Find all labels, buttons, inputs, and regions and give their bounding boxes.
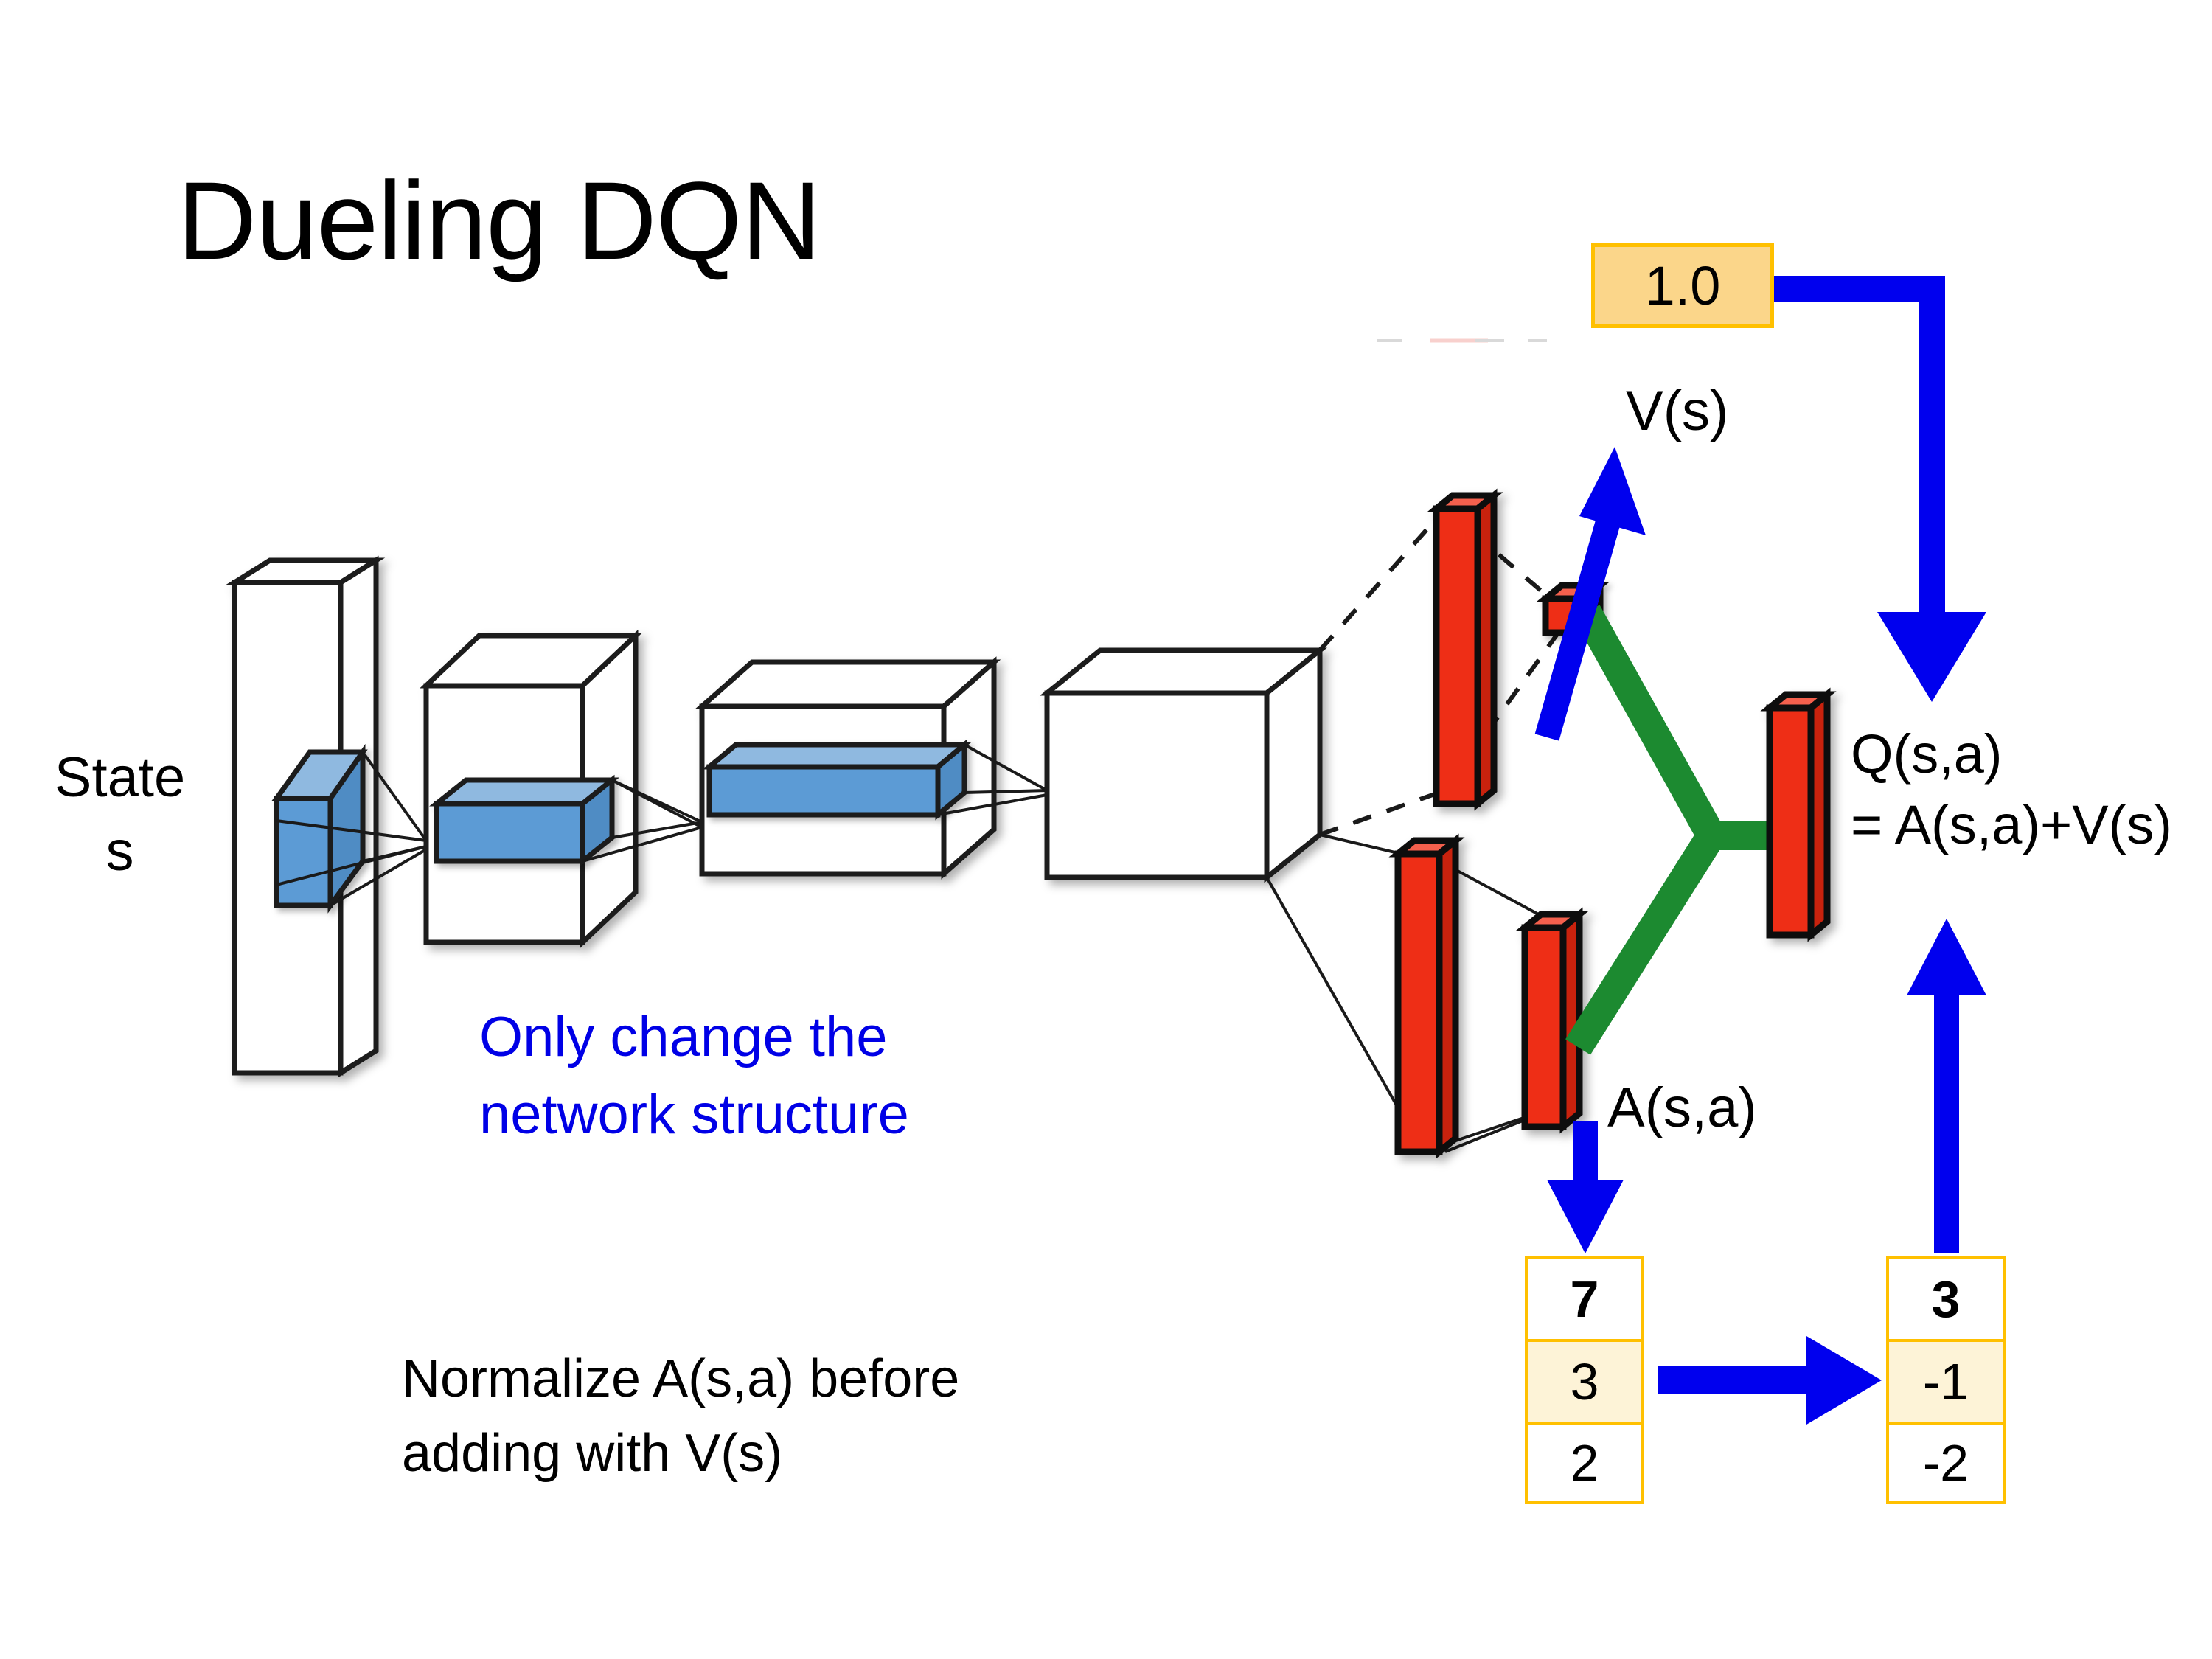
q-output-bar <box>1770 695 1827 935</box>
q-table-to-output-arrow <box>1907 919 1986 1253</box>
value-stream-label: V(s) <box>1626 380 1728 442</box>
conv2-feature-slab <box>709 745 964 815</box>
table-row: 3 <box>1886 1256 2006 1339</box>
advantage-to-table-arrow <box>1547 1121 1624 1253</box>
advantage-hidden-bar <box>1398 841 1455 1152</box>
aggregate-merge-connector <box>1578 612 1799 1047</box>
q-output-label: Q(s,a) = A(s,a)+V(s) <box>1851 719 2172 860</box>
page-title: Dueling DQN <box>177 159 821 282</box>
advantage-value-table: 7 3 2 <box>1525 1256 1644 1504</box>
value-to-q-arrow <box>1774 289 1986 702</box>
table-row: 3 <box>1525 1339 1644 1422</box>
normalize-arrow <box>1658 1336 1882 1425</box>
value-estimate-box: 1.0 <box>1591 243 1774 328</box>
state-input-label: State s <box>22 741 218 889</box>
advantage-output-bar <box>1525 914 1579 1127</box>
table-row: -2 <box>1886 1422 2006 1504</box>
q-value-table: 3 -1 -2 <box>1886 1256 2006 1504</box>
slide-canvas: Dueling DQN State s Only change the netw… <box>0 0 2212 1659</box>
table-row: -1 <box>1886 1339 2006 1422</box>
value-estimate-text: 1.0 <box>1645 254 1721 317</box>
note-normalize-advantage: Normalize A(s,a) before adding with V(s) <box>402 1342 959 1491</box>
note-only-change-network: Only change the network structure <box>479 999 909 1154</box>
advantage-stream-label: A(s,a) <box>1607 1077 1757 1139</box>
value-hidden-bar <box>1436 495 1494 804</box>
conv-block-3 <box>1047 650 1320 877</box>
table-row: 7 <box>1525 1256 1644 1339</box>
table-row: 2 <box>1525 1422 1644 1504</box>
conv1-feature-slab <box>437 780 612 861</box>
